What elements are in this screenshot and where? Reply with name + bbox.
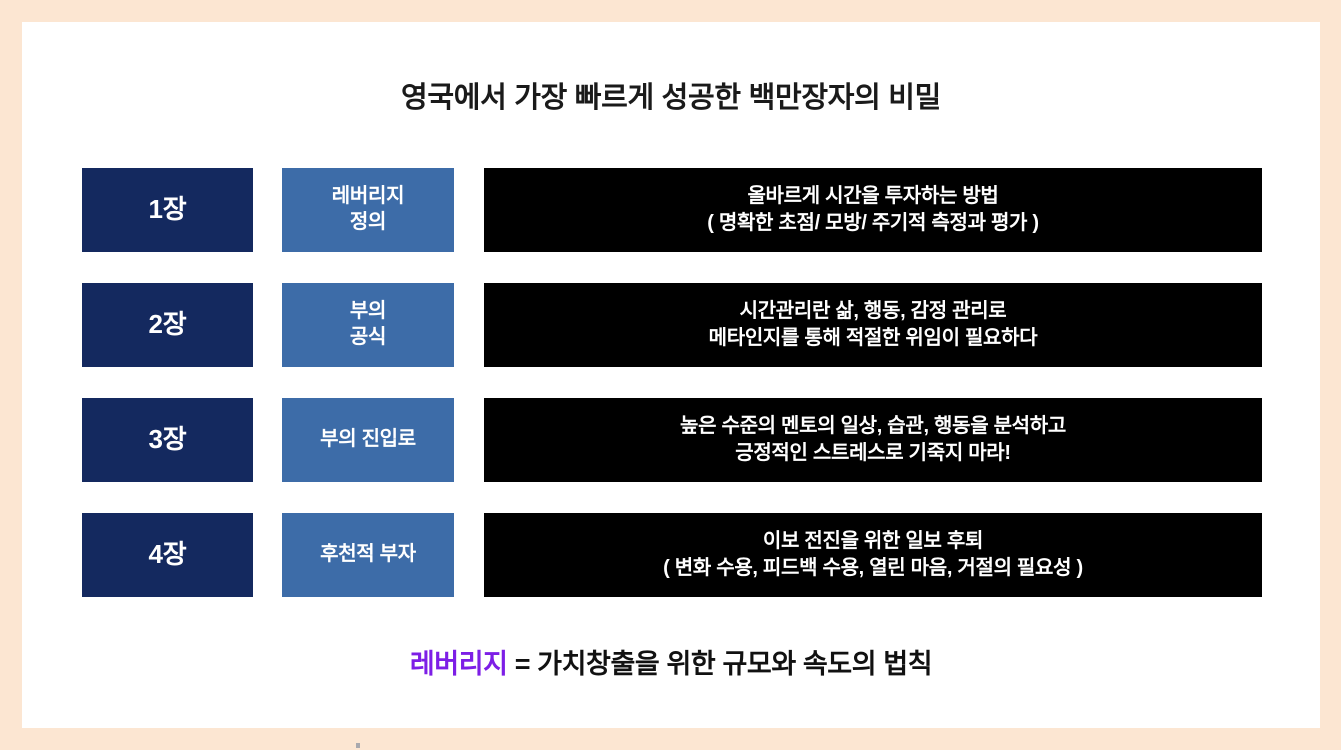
topic-label-text: 레버리지 정의	[332, 184, 404, 235]
detail-panel-text: 올바르게 시간을 투자하는 방법 ( 명확한 초점/ 모방/ 주기적 측정과 평…	[707, 183, 1039, 237]
slide-outer-frame: 영국에서 가장 빠르게 성공한 백만장자의 비밀 1장 레버리지 정의 올바르게…	[0, 0, 1341, 750]
slide-card: 영국에서 가장 빠르게 성공한 백만장자의 비밀 1장 레버리지 정의 올바르게…	[22, 22, 1320, 728]
detail-panel-text: 높은 수준의 멘토의 일상, 습관, 행동을 분석하고 긍정적인 스트레스로 기…	[680, 413, 1066, 467]
detail-panel-2[interactable]: 시간관리란 삶, 행동, 감정 관리로 메타인지를 통해 적절한 위임이 필요하…	[484, 283, 1262, 367]
table-row: 3장 부의 진입로 높은 수준의 멘토의 일상, 습관, 행동을 분석하고 긍정…	[22, 398, 1320, 482]
footer-statement: 레버리지 = 가치창출을 위한 규모와 속도의 법칙	[22, 642, 1320, 681]
topic-label-2[interactable]: 부의 공식	[282, 283, 454, 367]
detail-panel-3[interactable]: 높은 수준의 멘토의 일상, 습관, 행동을 분석하고 긍정적인 스트레스로 기…	[484, 398, 1262, 482]
chapter-label-4[interactable]: 4장	[82, 513, 253, 597]
chapter-label-text: 4장	[149, 540, 187, 570]
table-row: 1장 레버리지 정의 올바르게 시간을 투자하는 방법 ( 명확한 초점/ 모방…	[22, 168, 1320, 252]
topic-label-3[interactable]: 부의 진입로	[282, 398, 454, 482]
table-row: 2장 부의 공식 시간관리란 삶, 행동, 감정 관리로 메타인지를 통해 적절…	[22, 283, 1320, 367]
detail-panel-1[interactable]: 올바르게 시간을 투자하는 방법 ( 명확한 초점/ 모방/ 주기적 측정과 평…	[484, 168, 1262, 252]
chapter-label-3[interactable]: 3장	[82, 398, 253, 482]
chapter-label-text: 3장	[149, 425, 187, 455]
detail-panel-text: 시간관리란 삶, 행동, 감정 관리로 메타인지를 통해 적절한 위임이 필요하…	[709, 298, 1038, 352]
detail-panel-4[interactable]: 이보 전진을 위한 일보 후퇴 ( 변화 수용, 피드백 수용, 열린 마음, …	[484, 513, 1262, 597]
chapter-label-text: 1장	[149, 195, 187, 225]
chapter-table: 1장 레버리지 정의 올바르게 시간을 투자하는 방법 ( 명확한 초점/ 모방…	[22, 168, 1320, 606]
topic-label-text: 부의 공식	[350, 299, 386, 350]
page-title: 영국에서 가장 빠르게 성공한 백만장자의 비밀	[22, 74, 1320, 116]
footer-definition: = 가치창출을 위한 규모와 속도의 법칙	[508, 649, 933, 679]
chapter-label-1[interactable]: 1장	[82, 168, 253, 252]
topic-label-text: 후천적 부자	[320, 542, 416, 568]
topic-label-text: 부의 진입로	[320, 427, 416, 453]
detail-panel-text: 이보 전진을 위한 일보 후퇴 ( 변화 수용, 피드백 수용, 열린 마음, …	[663, 528, 1083, 582]
chapter-label-2[interactable]: 2장	[82, 283, 253, 367]
footer-keyword: 레버리지	[410, 649, 508, 679]
table-row: 4장 후천적 부자 이보 전진을 위한 일보 후퇴 ( 변화 수용, 피드백 수…	[22, 513, 1320, 597]
stray-dot-artifact	[356, 743, 360, 748]
chapter-label-text: 2장	[149, 310, 187, 340]
topic-label-4[interactable]: 후천적 부자	[282, 513, 454, 597]
topic-label-1[interactable]: 레버리지 정의	[282, 168, 454, 252]
